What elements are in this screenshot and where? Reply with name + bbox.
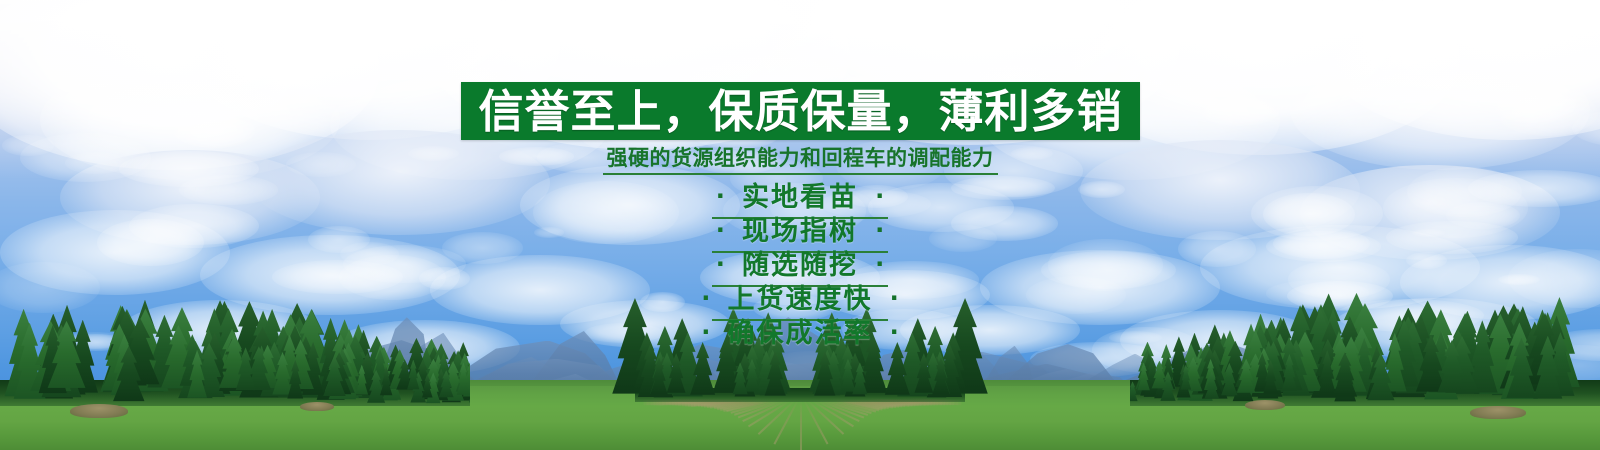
cloud-puff <box>173 113 256 149</box>
soil-mound <box>300 402 334 411</box>
cloud-puff <box>65 152 127 174</box>
cloud-puff <box>723 183 866 238</box>
conifer-forest-left <box>0 226 470 406</box>
center-tree-grove <box>635 292 965 402</box>
cloud-puff <box>1407 167 1522 218</box>
cloud-puff <box>836 140 945 189</box>
cloud-puff <box>575 97 718 158</box>
cloud-puff <box>286 152 356 177</box>
cloud-puff <box>408 146 459 160</box>
cloud-puff <box>817 72 943 103</box>
promo-banner: 信誉至上，保质保量，薄利多销 强硬的货源组织能力和回程车的调配能力 · 实地看苗… <box>0 0 1600 450</box>
cloud-puff <box>1348 52 1487 100</box>
cloud-puff <box>943 52 1086 107</box>
cloud-puff <box>534 227 564 238</box>
cloud-puff <box>48 73 149 98</box>
cloud-puff <box>493 48 537 62</box>
field-furrow-row <box>800 400 802 450</box>
conifer-forest-right <box>1130 226 1600 406</box>
soil-mound <box>70 404 128 418</box>
cloud-puff <box>1011 147 1053 160</box>
soil-mound <box>1245 400 1285 410</box>
soil-mound <box>1470 406 1526 419</box>
cloud-puff <box>951 206 1058 241</box>
cloud-puff <box>1198 94 1281 126</box>
cloud-puff <box>1497 90 1598 136</box>
cloud-puff <box>250 130 550 235</box>
cloud-puff <box>951 176 1055 200</box>
